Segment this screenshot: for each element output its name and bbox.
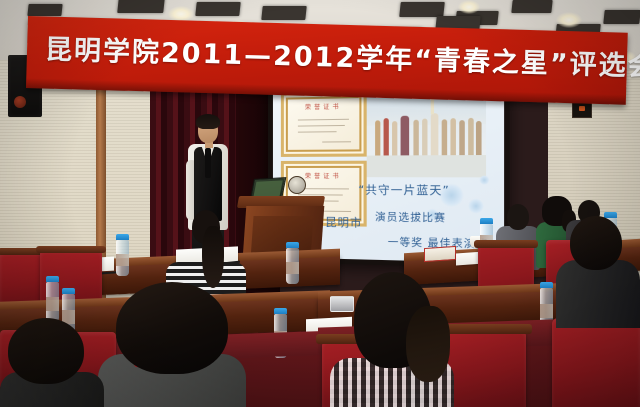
judge-nameplate	[424, 246, 456, 262]
ceiling-spotlight-glow	[458, 0, 480, 14]
chair-wood-trim	[36, 246, 106, 253]
slide-flower-decoration	[468, 199, 484, 214]
audience-member-left	[0, 318, 104, 407]
slide-flower-decoration	[479, 175, 489, 185]
conference-chair	[0, 252, 42, 306]
conference-chair	[552, 318, 640, 407]
water-bottle	[116, 234, 129, 276]
ceiling-light-fixture	[117, 0, 165, 13]
slide-line-middle: 演员选拔比赛	[375, 208, 446, 225]
water-bottle	[286, 242, 299, 284]
ceiling-spotlight-glow	[556, 12, 582, 28]
slide-headline: “共守一片蓝天”	[358, 181, 449, 198]
conference-hall-photo: 荣誉证书 荣誉证书	[0, 0, 640, 407]
ceiling-light-fixture	[511, 0, 552, 13]
ceiling-light-fixture	[27, 4, 62, 16]
certificate-title: 荣誉证书	[284, 101, 364, 112]
ponytail-woman	[330, 272, 454, 407]
event-banner-text: 昆明学院2011—2012学年“青春之星”评选会	[44, 24, 623, 92]
ceiling-light-fixture	[261, 6, 306, 20]
ceiling-light-fixture	[399, 2, 445, 17]
slide-line-left: 昆明市	[325, 214, 362, 231]
ceiling-light-fixture	[603, 10, 640, 24]
ceiling-light-fixture	[195, 2, 240, 16]
university-emblem-icon	[288, 176, 306, 194]
presenter-bow-tie	[205, 148, 211, 178]
audience-member-right	[556, 216, 640, 326]
loudspeaker-cone	[14, 96, 26, 108]
presenter-hair	[196, 114, 220, 129]
chair-wood-trim	[474, 240, 538, 248]
water-bottle	[46, 276, 59, 322]
lanyard-man	[98, 282, 246, 407]
slide-certificate-image: 荣誉证书	[281, 91, 367, 157]
